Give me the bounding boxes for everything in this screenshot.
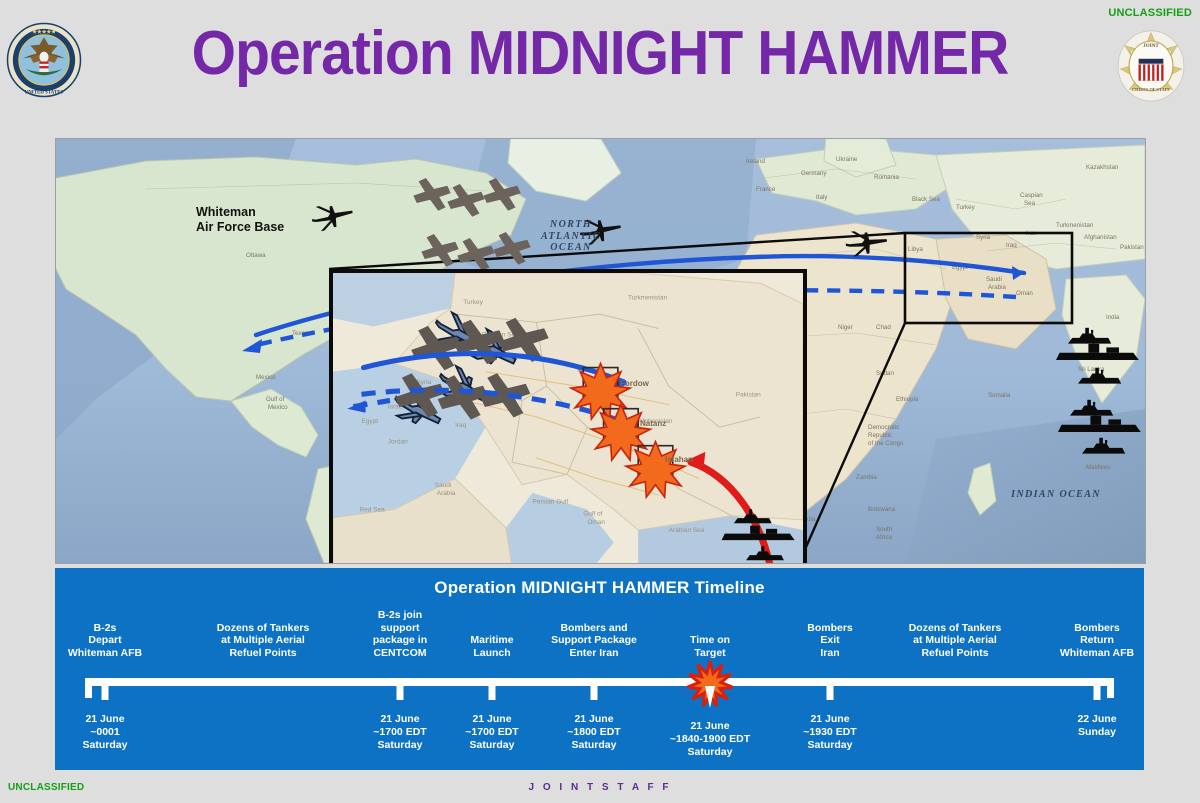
svg-text:Sudan: Sudan [876, 370, 894, 377]
svg-text:Ukraine: Ukraine [836, 156, 858, 163]
north-atlantic-ocean-label: NORTH ATLANTIC OCEAN [511, 219, 631, 254]
svg-text:Arabia: Arabia [988, 284, 1006, 291]
svg-text:JOINT: JOINT [1143, 43, 1159, 49]
svg-text:Turkey: Turkey [956, 204, 976, 211]
timeline-event-date-line: 21 June [25, 713, 185, 726]
timeline-event-date-line: ~0001 [25, 726, 185, 739]
timeline-event-date-line: Sunday [1017, 726, 1177, 739]
timeline-panel: Operation MIDNIGHT HAMMER Timeline B-2sD… [55, 568, 1144, 770]
svg-text:Botswana: Botswana [868, 506, 896, 513]
svg-text:Democratic: Democratic [868, 424, 899, 431]
svg-text:Libya: Libya [908, 246, 923, 253]
svg-text:Gulf of: Gulf of [583, 511, 602, 518]
timeline-tick [102, 678, 109, 700]
department-of-defense-seal-icon: ★★★★★ UNITED STATES [6, 22, 82, 98]
operation-map: OttawaMexico Gulf ofMexico TexasCuba Ger… [55, 138, 1146, 564]
svg-text:Oman: Oman [1016, 290, 1033, 297]
svg-text:Zambia: Zambia [856, 474, 877, 481]
timeline-event-label: BombersReturnWhiteman AFB [1017, 622, 1177, 660]
svg-text:of the Congo: of the Congo [868, 440, 904, 447]
svg-text:Arabia: Arabia [437, 490, 456, 497]
svg-text:Saudi: Saudi [435, 482, 452, 489]
timeline-event-label: Dozens of Tankersat Multiple AerialRefue… [183, 622, 343, 660]
svg-text:Red Sea: Red Sea [359, 506, 385, 513]
svg-text:Niger: Niger [838, 324, 853, 331]
svg-text:Ethiopia: Ethiopia [896, 396, 919, 403]
svg-text:South: South [876, 526, 893, 533]
timeline-event-label-line: Whiteman AFB [25, 647, 185, 660]
timeline-event-label-line: Return [1017, 634, 1177, 647]
svg-text:Romania: Romania [874, 174, 899, 181]
timeline-event-label-line: Bombers [1017, 622, 1177, 635]
svg-text:Arabian Sea: Arabian Sea [669, 527, 705, 534]
svg-text:Saudi: Saudi [986, 276, 1002, 283]
timeline-event-label-line: at Multiple Aerial [875, 634, 1035, 647]
svg-text:Germany: Germany [801, 170, 827, 177]
svg-text:Sea: Sea [1024, 200, 1036, 207]
middle-east-inset-map: TurkeyTurkmenistan SyriaIraq IranAfghani… [329, 269, 807, 564]
svg-text:Somalia: Somalia [988, 392, 1011, 399]
svg-text:India: India [1106, 314, 1120, 321]
svg-text:Persian Gulf: Persian Gulf [532, 498, 568, 505]
timeline-event-date: 21 June~0001Saturday [25, 713, 185, 752]
svg-text:Italy: Italy [816, 194, 828, 201]
target-label-isfahan: Isfahan [665, 455, 693, 464]
svg-text:Pakistan: Pakistan [736, 391, 761, 398]
svg-text:Turkey: Turkey [463, 299, 483, 306]
svg-text:France: France [756, 186, 776, 193]
svg-text:Syria: Syria [976, 234, 991, 241]
svg-text:CHIEFS OF STAFF: CHIEFS OF STAFF [1132, 87, 1170, 92]
timeline-event-date: 21 June~1930 EDTSaturday [750, 713, 910, 752]
timeline-tick [397, 678, 404, 700]
svg-text:Chad: Chad [876, 324, 891, 331]
footer-organization: J O I N T S T A F F [0, 782, 1200, 793]
timeline-event-label-line: Whiteman AFB [1017, 647, 1177, 660]
svg-text:Sri Lanka: Sri Lanka [1078, 366, 1105, 373]
svg-text:Turkmenistan: Turkmenistan [628, 295, 667, 302]
timeline-tick [1094, 678, 1101, 700]
svg-text:★★★★★: ★★★★★ [31, 29, 56, 35]
timeline-event-label-line: at Multiple Aerial [183, 634, 343, 647]
target-label-fordow: Fordow [620, 379, 649, 388]
svg-text:Turkmenistan: Turkmenistan [1056, 222, 1094, 229]
timeline-tick [489, 678, 496, 700]
timeline-event-label: B-2sDepartWhiteman AFB [25, 622, 185, 660]
timeline-event-label-line: Bombers and [514, 622, 674, 635]
inset-basemap: TurkeyTurkmenistan SyriaIraq IranAfghani… [333, 273, 803, 564]
svg-text:Caspian: Caspian [1020, 192, 1043, 199]
svg-text:Gulf of: Gulf of [266, 396, 285, 403]
svg-text:Oman: Oman [587, 519, 605, 526]
timeline-event-label-line: support [320, 622, 480, 635]
timeline-tick [591, 678, 598, 700]
svg-text:Egypt: Egypt [361, 418, 378, 425]
svg-text:Afghanistan: Afghanistan [1084, 234, 1117, 241]
timeline-event-label-line: Refuel Points [183, 647, 343, 660]
joint-chiefs-of-staff-seal-icon: JOINT CHIEFS OF STAFF [1114, 28, 1188, 104]
svg-text:Mexico: Mexico [256, 374, 276, 381]
timeline-event-label-line: B-2s [25, 622, 185, 635]
svg-text:Black Sea: Black Sea [912, 196, 940, 203]
timeline-event-date-line: Saturday [25, 739, 185, 752]
page-title: Operation MIDNIGHT HAMMER [48, 22, 1152, 86]
classification-banner-top: UNCLASSIFIED [1108, 7, 1192, 19]
timeline-event-date-line: Saturday [750, 739, 910, 752]
timeline-event-date-line: 21 June [750, 713, 910, 726]
timeline-event-label-line: Dozens of Tankers [875, 622, 1035, 635]
indian-ocean-label: INDIAN OCEAN [986, 489, 1126, 500]
target-label-natanz: Natanz [640, 419, 666, 428]
timeline-event-date-line: 22 June [1017, 713, 1177, 726]
timeline-event-label-line: Refuel Points [875, 647, 1035, 660]
svg-text:Pakistan: Pakistan [1120, 244, 1144, 251]
svg-text:Republic: Republic [868, 432, 892, 439]
svg-text:Africa: Africa [876, 534, 892, 541]
svg-text:UNITED STATES: UNITED STATES [25, 90, 64, 95]
timeline-event-label-line: B-2s join [320, 609, 480, 622]
timeline-event-date: 22 JuneSunday [1017, 713, 1177, 739]
svg-text:Iraq: Iraq [1006, 242, 1017, 249]
svg-text:Ireland: Ireland [746, 158, 765, 165]
timeline-tick [827, 678, 834, 700]
timeline-event-label-line: Depart [25, 634, 185, 647]
svg-text:Iraq: Iraq [455, 422, 467, 429]
svg-text:Kazakhstan: Kazakhstan [1086, 164, 1119, 171]
svg-text:Ottawa: Ottawa [246, 252, 266, 259]
svg-text:Maldives: Maldives [1086, 464, 1110, 471]
timeline-event-label: Dozens of Tankersat Multiple AerialRefue… [875, 622, 1035, 660]
svg-text:Jordan: Jordan [388, 439, 408, 446]
timeline-event-label-line: Dozens of Tankers [183, 622, 343, 635]
timeline-event-date-line: ~1930 EDT [750, 726, 910, 739]
svg-text:Mexico: Mexico [268, 404, 288, 411]
